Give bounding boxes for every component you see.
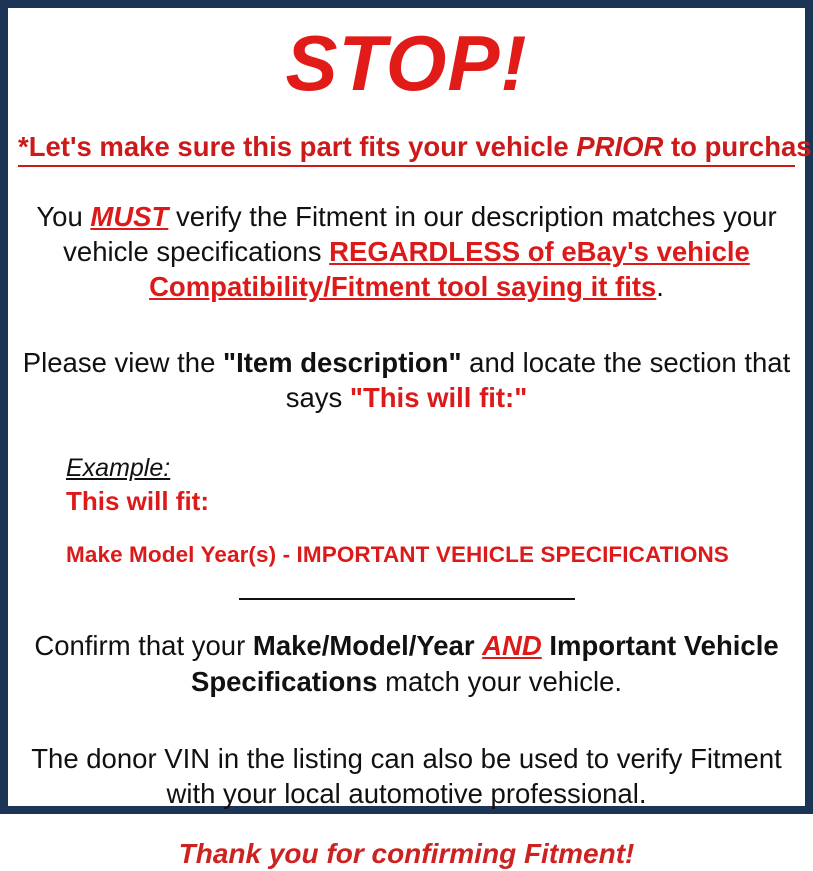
must-emphasis: MUST	[90, 201, 168, 232]
example-label: Example:	[66, 453, 170, 483]
fitment-notice-card: STOP! *Let's make sure this part fits yo…	[0, 0, 813, 814]
and-emphasis: AND	[482, 630, 542, 661]
subtitle-prior-emphasis: PRIOR	[576, 131, 663, 162]
example-label-row: Example:	[66, 453, 795, 483]
thank-you-line: Thank you for confirming Fitment!	[18, 837, 795, 871]
this-will-fit-quote: "This will fit:"	[350, 382, 527, 413]
subtitle-part-2: to purchasing*	[663, 131, 813, 162]
must-paragraph-seg-3: .	[656, 271, 664, 302]
confirm-seg-1: Confirm that your	[34, 630, 253, 661]
subtitle-part-1: *Let's make sure this part fits your veh…	[18, 131, 576, 162]
must-paragraph-seg-1: You	[36, 201, 90, 232]
confirm-seg-2: match your vehicle.	[377, 666, 622, 697]
must-verify-paragraph: You MUST verify the Fitment in our descr…	[18, 199, 795, 305]
stop-heading: STOP!	[18, 24, 795, 102]
item-desc-seg-1: Please view the	[23, 347, 223, 378]
section-divider	[239, 598, 575, 600]
example-spec-line: Make Model Year(s) - IMPORTANT VEHICLE S…	[66, 541, 795, 568]
item-description-paragraph: Please view the "Item description" and l…	[18, 345, 795, 415]
example-block: Example: This will fit: Make Model Year(…	[18, 453, 795, 569]
confirm-paragraph: Confirm that your Make/Model/Year AND Im…	[18, 628, 795, 698]
item-description-label: "Item description"	[223, 347, 461, 378]
subtitle-banner: *Let's make sure this part fits your veh…	[18, 130, 795, 167]
example-will-fit-heading: This will fit:	[66, 485, 795, 518]
make-model-year-emphasis: Make/Model/Year	[253, 630, 475, 661]
vin-paragraph: The donor VIN in the listing can also be…	[18, 741, 795, 811]
